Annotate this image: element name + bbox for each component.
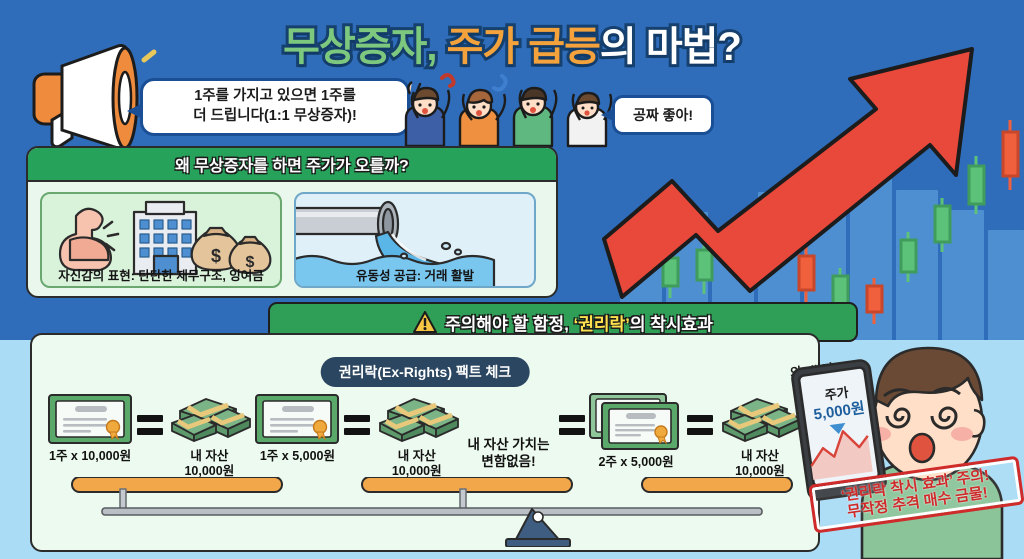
red-up-arrow-icon [600, 35, 1024, 325]
balance-scale-icon [62, 477, 802, 547]
title-part-3: 의 마법? [600, 25, 741, 69]
card-confidence-caption: 자신감의 표현: 탄탄한 재무구조, 잉여금 [42, 262, 280, 286]
stock-certificate-double-icon [588, 393, 684, 451]
equation-label: 2주 x 5,000원 [598, 455, 673, 470]
card-liquidity: 유동성 공급: 거래 활발 [294, 192, 536, 288]
equation-label: 1주 x 5,000원 [260, 449, 335, 464]
warning-highlight: ‘권리락’ [574, 315, 630, 334]
infographic-canvas: 무상증자, 주가 급등의 마법? 1주를 가지고 있으면 1주를 더 드립니다(… [0, 0, 1024, 559]
title-part-2: 주가 급등 [436, 25, 599, 69]
bubble-tail [132, 105, 144, 117]
fact-check-pill-text: 권리락(Ex-Rights) 팩트 체크 [339, 364, 512, 380]
card-caption-text: 자신감의 표현: 탄탄한 재무구조, 잉여금 [58, 265, 264, 284]
why-panel-title: 왜 무상증자를 하면 주가가 오를까? [175, 152, 409, 176]
equation-item-money-1: 내 자산 10,000원 [165, 393, 253, 479]
equation-label: 내 자산 10,000원 [184, 449, 234, 479]
asset-unchanged-text: 내 자산 가치는 변함없음! [461, 437, 556, 471]
equation-label: 1주 x 10,000원 [49, 449, 131, 464]
equation-label: 내 자산 10,000원 [392, 449, 442, 479]
equation-label: 내 자산 10,000원 [735, 449, 785, 479]
why-panel-cards: $ $ 자신감의 표현: 탄탄한 재무구조, 잉여금 [28, 182, 556, 298]
main-speech-bubble: 1주를 가지고 있으면 1주를 더 드립니다(1:1 무상증자)! [140, 78, 410, 136]
card-caption-text: 유동성 공급: 거래 활발 [356, 265, 474, 284]
warning-triangle-icon [413, 311, 437, 333]
equation-row: 1주 x 10,000원 [46, 393, 804, 479]
warning-text: 주의해야 할 함정, ‘권리락’의 착시효과 [445, 310, 713, 335]
fact-check-pill: 권리락(Ex-Rights) 팩트 체크 [321, 357, 530, 387]
equals-icon [134, 415, 165, 435]
why-panel: 왜 무상증자를 하면 주가가 오를까? [26, 146, 558, 298]
equals-icon [341, 415, 372, 435]
money-stack-icon [374, 393, 460, 445]
card-liquidity-caption: 유동성 공급: 거래 활발 [296, 262, 534, 286]
warning-text-before: 주의해야 할 함정, [445, 315, 573, 334]
card-confidence: $ $ 자신감의 표현: 탄탄한 재무구조, 잉여금 [40, 192, 282, 288]
equals-icon [556, 415, 587, 435]
equation-item-cert-double: 2주 x 5,000원 [587, 393, 684, 470]
money-stack-icon [166, 393, 252, 445]
cheering-people-icon [398, 70, 628, 148]
bubble-side-text: 공짜 좋아! [633, 105, 693, 125]
stock-certificate-icon [254, 393, 340, 445]
title-part-1: 무상증자, [283, 25, 436, 69]
bubble-main-text: 1주를 가지고 있으면 1주를 더 드립니다(1:1 무상증자)! [193, 87, 357, 126]
warning-text-after: 의 착시효과 [630, 315, 713, 334]
why-panel-header: 왜 무상증자를 하면 주가가 오를까? [28, 148, 556, 182]
fact-check-panel: 권리락(Ex-Rights) 팩트 체크 1주 x 10,000원 [30, 333, 820, 552]
side-speech-bubble: 공짜 좋아! [612, 95, 714, 135]
equation-item-cert-2: 1주 x 5,000원 [253, 393, 341, 464]
equation-item-money-2: 내 자산 10,000원 [373, 393, 461, 479]
megaphone-icon [22, 38, 157, 150]
equation-item-cert-1: 1주 x 10,000원 [46, 393, 134, 464]
stock-certificate-icon [47, 393, 133, 445]
equals-icon [685, 415, 716, 435]
